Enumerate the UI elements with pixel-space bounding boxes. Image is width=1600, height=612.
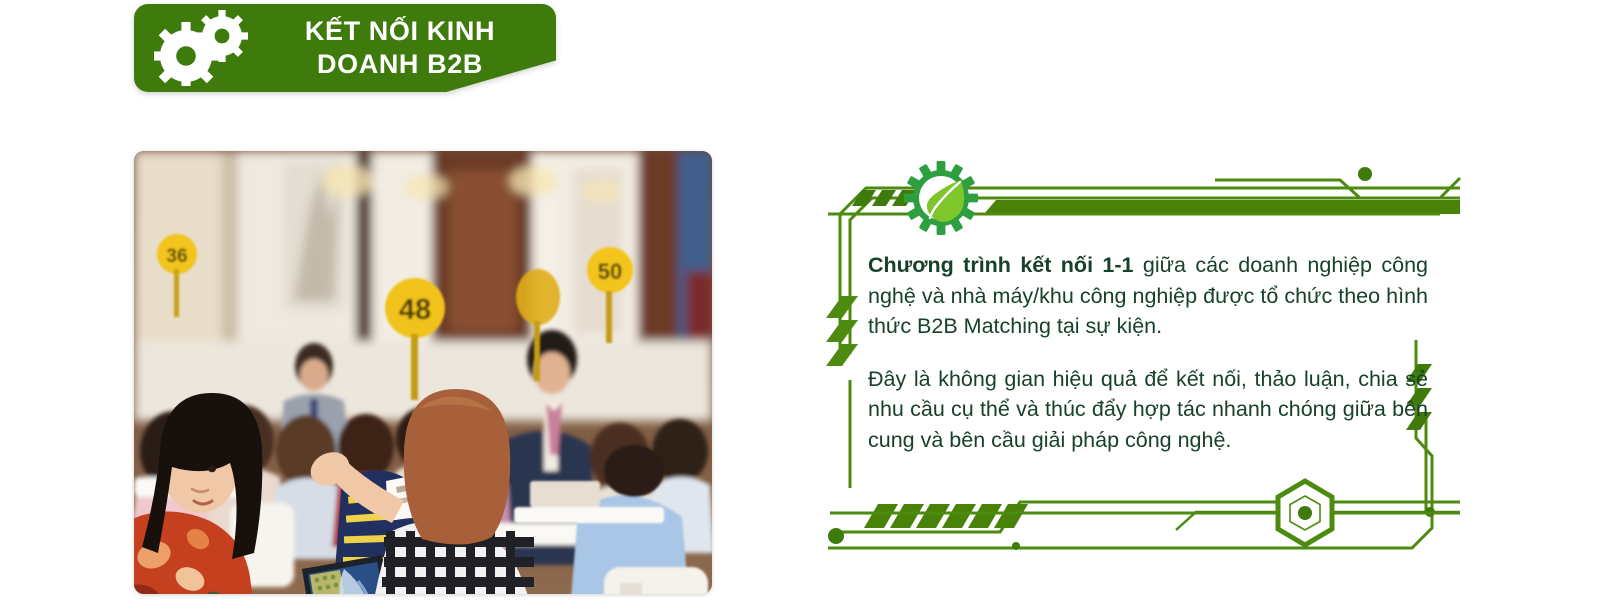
paragraph-1-lead: Chương trình kết nối 1-1 [868, 253, 1134, 277]
badge-title-line-2: DOANH B2B [268, 48, 532, 81]
bottom-hatch-icon [864, 504, 1028, 528]
bottom-left-node [828, 528, 844, 544]
diagonal-hatch-icon [826, 296, 858, 366]
top-accent-band [984, 192, 1480, 214]
info-panel: Chương trình kết nối 1-1 giữa các doanh … [820, 150, 1460, 570]
paragraph-2: Đây là không gian hiệu quả để kết nối, t… [868, 364, 1428, 456]
svg-text:48: 48 [399, 294, 431, 326]
gear-leaf-logo-icon [898, 158, 984, 238]
paragraph-1: Chương trình kết nối 1-1 giữa các doanh … [868, 250, 1428, 342]
svg-text:50: 50 [598, 259, 622, 284]
svg-text:36: 36 [166, 246, 187, 267]
two-gears-icon [154, 10, 258, 86]
hexagon-node-icon [1278, 481, 1332, 545]
panel-copy: Chương trình kết nối 1-1 giữa các doanh … [868, 250, 1428, 455]
node-dot-icon [1012, 542, 1020, 550]
node-dot-icon [828, 528, 844, 544]
badge-title: KẾT NỐI KINH DOANH B2B [268, 15, 538, 81]
badge-title-line-1: KẾT NỐI KINH [268, 15, 532, 48]
badge-content: KẾT NỐI KINH DOANH B2B [134, 4, 556, 92]
event-photo: 36 48 50 [134, 151, 712, 594]
section-badge: KẾT NỐI KINH DOANH B2B [134, 4, 556, 92]
slide-canvas: KẾT NỐI KINH DOANH B2B [0, 0, 1600, 612]
node-dot-icon [1358, 167, 1372, 181]
